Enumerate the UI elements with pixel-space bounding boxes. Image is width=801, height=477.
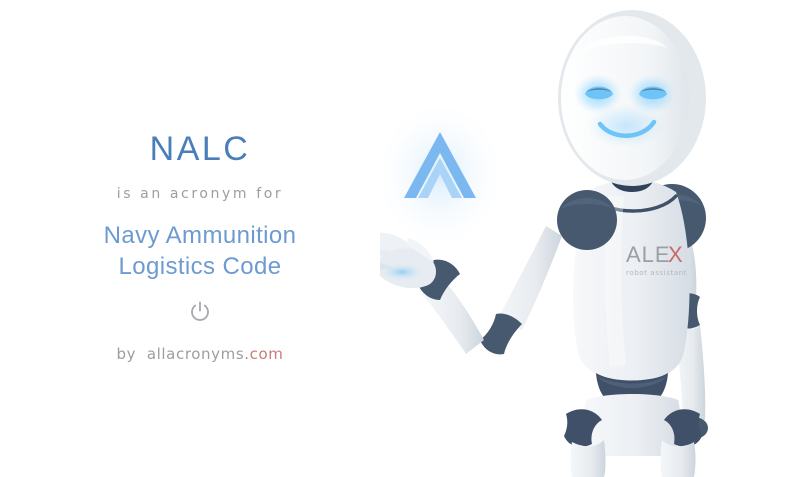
attribution-prefix: by	[117, 345, 137, 363]
page-title: NALC	[0, 130, 400, 169]
robot-illustration: ALE X robot assistant	[380, 0, 801, 477]
robot-tagline: robot assistant	[626, 269, 687, 277]
attribution-site-name: allacronyms	[147, 345, 244, 363]
acronym-definition-page: NALC is an acronym for Navy Ammunition L…	[0, 0, 801, 477]
power-icon-wrap	[0, 301, 400, 325]
robot-smile	[586, 104, 666, 148]
acronym-expansion: Navy Ammunition Logistics Code	[0, 220, 400, 282]
robot-name-prefix: ALE	[626, 242, 671, 267]
chevron-logo-hologram	[380, 103, 502, 247]
elbow-joint-left	[480, 313, 522, 354]
robot-chest-branding: ALE X robot assistant	[626, 242, 687, 277]
power-icon	[190, 301, 210, 323]
attribution: by allacronyms.com	[0, 345, 400, 363]
expansion-line-1: Navy Ammunition	[0, 220, 400, 251]
robot-name-accent-letter: X	[668, 242, 683, 267]
attribution-tld: .com	[244, 345, 283, 363]
palm-glow	[382, 264, 422, 280]
acronym-subtitle: is an acronym for	[0, 186, 400, 202]
expansion-line-2: Logistics Code	[0, 251, 400, 282]
text-column: NALC is an acronym for Navy Ammunition L…	[0, 0, 400, 477]
attribution-link[interactable]: allacronyms.com	[147, 345, 284, 363]
robot-head	[558, 10, 706, 186]
